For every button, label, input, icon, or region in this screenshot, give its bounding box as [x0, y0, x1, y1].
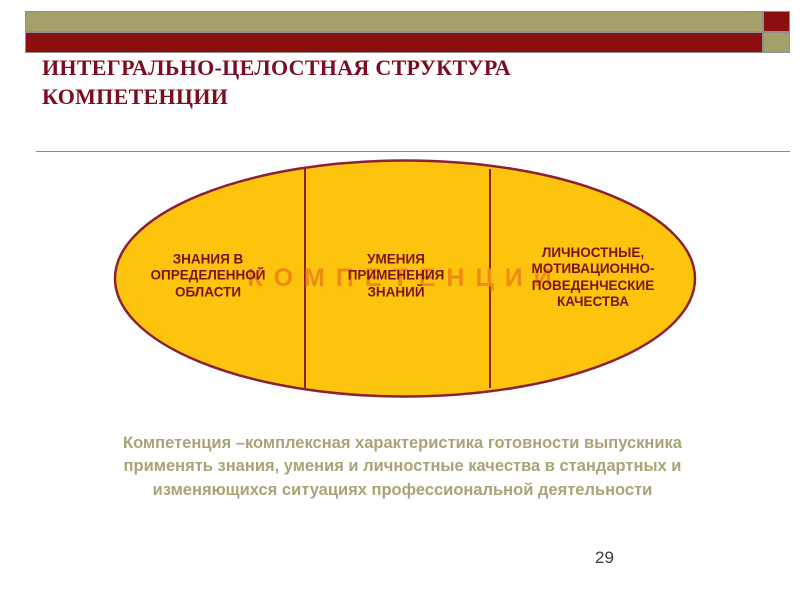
header-bar-top-left-segment	[25, 11, 763, 32]
segment-label-skills: УМЕНИЯ ПРИМЕНЕНИЯ ЗНАНИЙ	[310, 251, 482, 300]
page-number: 29	[595, 548, 614, 568]
segment-label-knowledge: ЗНАНИЯ В ОПРЕДЕЛЕННОЙ ОБЛАСТИ	[120, 251, 296, 300]
header-bar-bottom-right-segment	[763, 32, 790, 53]
header-bar-bottom-left-segment	[25, 32, 763, 53]
title-divider-rule	[36, 151, 790, 152]
definition-caption: Компетенция –комплексная характеристика …	[95, 432, 710, 502]
slide-canvas: ИНТЕГРАЛЬНО-ЦЕЛОСТНАЯ СТРУКТУРА КОМПЕТЕН…	[0, 0, 800, 600]
header-bar-top	[25, 11, 790, 32]
header-bar-top-right-segment	[763, 11, 790, 32]
header-bar-bottom	[25, 32, 790, 53]
segment-label-personal-qualities: ЛИЧНОСТНЫЕ, МОТИВАЦИОННО- ПОВЕДЕНЧЕСКИЕ …	[494, 245, 692, 311]
page-title: ИНТЕГРАЛЬНО-ЦЕЛОСТНАЯ СТРУКТУРА КОМПЕТЕН…	[42, 54, 742, 111]
